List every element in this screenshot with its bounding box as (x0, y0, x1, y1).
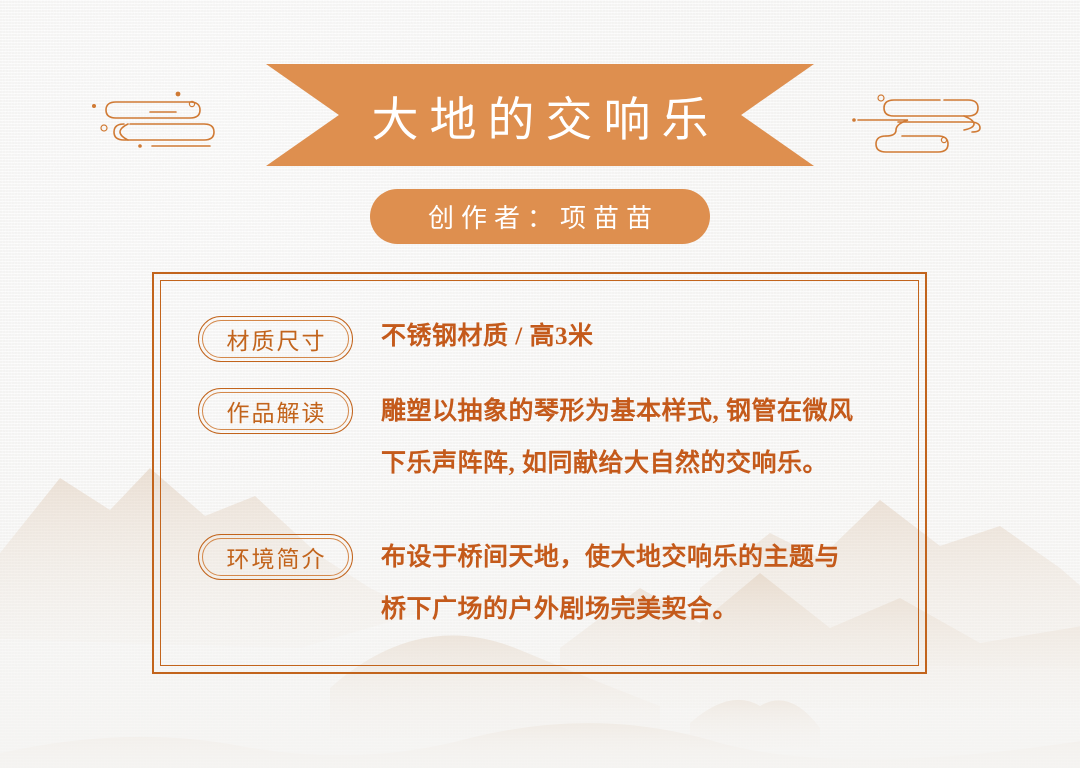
row-label-material: 材质尺寸 (198, 316, 353, 362)
table-row: 作品解读 雕塑以抽象的琴形为基本样式, 钢管在微风下乐声阵阵, 如同献给大自然的… (198, 386, 885, 490)
row-label-interpretation: 作品解读 (198, 388, 353, 434)
label-text: 环境简介 (225, 540, 327, 574)
row-value-material: 不锈钢材质 / 高3米 (381, 314, 859, 360)
detail-rows: 材质尺寸 不锈钢材质 / 高3米 作品解读 雕塑以抽象的琴形为基本样式, 钢管在… (198, 314, 885, 636)
table-row: 环境简介 布设于桥间天地，使大地交响乐的主题与桥下广场的户外剧场完美契合。 (198, 532, 885, 636)
content-panel: 材质尺寸 不锈钢材质 / 高3米 作品解读 雕塑以抽象的琴形为基本样式, 钢管在… (152, 272, 927, 674)
page-title: 大地的交响乐 (266, 64, 814, 166)
poster-canvas: 大地的交响乐 创作者：项苗苗 材质尺寸 不锈钢材质 / 高3米 作品解读 雕塑以… (0, 0, 1080, 768)
label-text: 作品解读 (225, 394, 327, 428)
cloud-motif-left-icon (86, 84, 218, 162)
row-spacer (198, 514, 885, 532)
author-label: 创作者：项苗苗 (421, 198, 659, 235)
row-label-environment: 环境简介 (198, 534, 353, 580)
row-value-environment: 布设于桥间天地，使大地交响乐的主题与桥下广场的户外剧场完美契合。 (381, 532, 859, 636)
row-value-interpretation: 雕塑以抽象的琴形为基本样式, 钢管在微风下乐声阵阵, 如同献给大自然的交响乐。 (381, 386, 859, 490)
label-text: 材质尺寸 (225, 322, 327, 356)
author-badge: 创作者：项苗苗 (370, 189, 710, 244)
title-banner: 大地的交响乐 (266, 64, 814, 166)
cloud-motif-right-icon (852, 84, 988, 162)
table-row: 材质尺寸 不锈钢材质 / 高3米 (198, 314, 885, 362)
